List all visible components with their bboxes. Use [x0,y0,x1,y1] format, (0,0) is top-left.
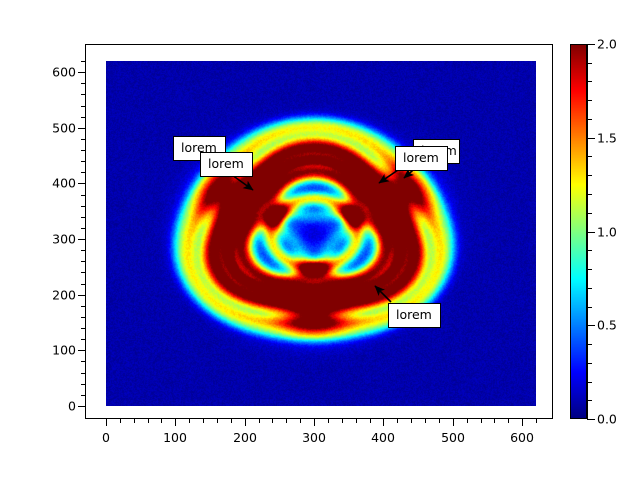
y-major-tick [78,72,85,73]
x-minor-tick [494,419,495,423]
y-major-tick [78,406,85,407]
x-minor-tick [231,419,232,423]
y-minor-tick [81,384,85,385]
x-minor-tick [203,419,204,423]
y-tick-label: 400 [34,176,76,191]
x-minor-tick [300,419,301,423]
y-minor-tick [81,272,85,273]
y-tick-label: 300 [34,232,76,247]
x-minor-tick [481,419,482,423]
colorbar-major-tick [587,232,595,233]
colorbar-minor-tick [587,119,592,120]
x-tick-label: 200 [233,430,257,445]
y-minor-tick [81,317,85,318]
y-minor-tick [81,373,85,374]
x-minor-tick [134,419,135,423]
colorbar-gradient [570,44,587,419]
colorbar-major-tick [587,138,595,139]
x-tick-label: 600 [510,430,534,445]
colorbar-tick-label: 0.5 [597,318,617,333]
colorbar-major-tick [587,419,595,420]
annotation-label[interactable]: lorem [395,146,448,171]
colorbar-minor-tick [587,250,592,251]
x-minor-tick [342,419,343,423]
y-minor-tick [81,217,85,218]
colorbar-minor-tick [587,363,592,364]
y-minor-tick [81,284,85,285]
x-tick-label: 0 [102,430,110,445]
x-minor-tick [259,419,260,423]
colorbar-minor-tick [587,344,592,345]
colorbar [570,44,587,419]
x-major-tick [245,419,246,426]
y-tick-label: 200 [34,288,76,303]
y-minor-tick [81,206,85,207]
y-major-tick [78,350,85,351]
annotation-label[interactable]: lorem [388,303,441,328]
y-tick-label: 600 [34,65,76,80]
x-minor-tick [272,419,273,423]
x-major-tick [314,419,315,426]
colorbar-minor-tick [587,63,592,64]
colorbar-minor-tick [587,100,592,101]
colorbar-minor-tick [587,175,592,176]
y-minor-tick [81,83,85,84]
y-minor-tick [81,361,85,362]
x-minor-tick [425,419,426,423]
x-minor-tick [439,419,440,423]
x-minor-tick [148,419,149,423]
x-major-tick [453,419,454,426]
x-minor-tick [217,419,218,423]
x-major-tick [106,419,107,426]
colorbar-tick-label: 1.5 [597,131,617,146]
colorbar-minor-tick [587,156,592,157]
colorbar-tick-label: 2.0 [597,37,617,52]
y-minor-tick [81,161,85,162]
x-minor-tick [467,419,468,423]
x-minor-tick [328,419,329,423]
y-minor-tick [81,150,85,151]
x-minor-tick [536,419,537,423]
y-minor-tick [81,228,85,229]
x-minor-tick [397,419,398,423]
y-minor-tick [81,261,85,262]
x-tick-label: 500 [441,430,465,445]
y-tick-label: 100 [34,343,76,358]
y-minor-tick [81,395,85,396]
x-minor-tick [370,419,371,423]
y-minor-tick [81,117,85,118]
colorbar-minor-tick [587,269,592,270]
y-minor-tick [81,139,85,140]
x-major-tick [522,419,523,426]
colorbar-tick-label: 0.0 [597,412,617,427]
heatmap-image [106,61,536,406]
x-minor-tick [161,419,162,423]
y-minor-tick [81,106,85,107]
y-minor-tick [81,250,85,251]
y-minor-tick [81,94,85,95]
x-tick-label: 100 [163,430,187,445]
colorbar-minor-tick [587,194,592,195]
x-tick-label: 300 [302,430,326,445]
colorbar-minor-tick [587,288,592,289]
y-minor-tick [81,172,85,173]
y-major-tick [78,239,85,240]
y-major-tick [78,295,85,296]
x-tick-label: 400 [371,430,395,445]
x-minor-tick [411,419,412,423]
y-minor-tick [81,306,85,307]
colorbar-minor-tick [587,307,592,308]
y-minor-tick [81,195,85,196]
y-minor-tick [81,328,85,329]
y-minor-tick [81,61,85,62]
y-minor-tick [81,339,85,340]
x-major-tick [383,419,384,426]
y-tick-label: 0 [34,399,76,414]
colorbar-minor-tick [587,382,592,383]
x-minor-tick [189,419,190,423]
x-minor-tick [286,419,287,423]
y-tick-label: 500 [34,121,76,136]
x-major-tick [175,419,176,426]
colorbar-minor-tick [587,213,592,214]
colorbar-major-tick [587,325,595,326]
annotation-label[interactable]: lorem [200,152,253,177]
colorbar-minor-tick [587,400,592,401]
colorbar-major-tick [587,44,595,45]
x-minor-tick [356,419,357,423]
x-minor-tick [508,419,509,423]
figure-canvas: 01002003004005006000100200300400500600 0… [0,0,640,480]
colorbar-minor-tick [587,81,592,82]
y-major-tick [78,183,85,184]
y-major-tick [78,128,85,129]
colorbar-tick-label: 1.0 [597,225,617,240]
x-minor-tick [120,419,121,423]
